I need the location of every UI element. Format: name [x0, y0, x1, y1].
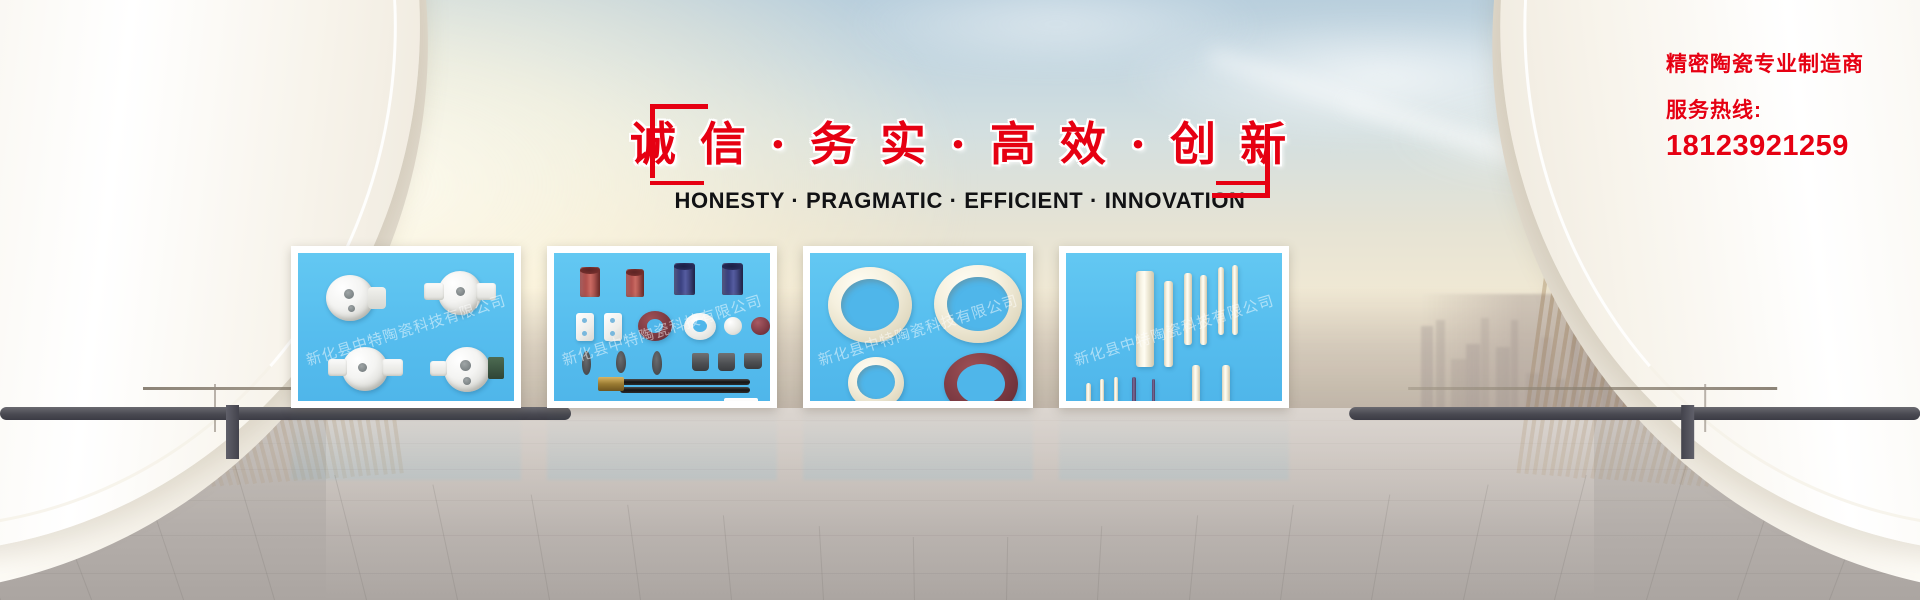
- contact-block: 精密陶瓷专业制造商 服务热线: 18123921259: [1666, 48, 1864, 163]
- panel-ceramic-components[interactable]: 新化县中特陶瓷科技有限公司: [547, 246, 777, 408]
- slogan-rule-right: [1216, 181, 1270, 185]
- floor-seam: [1280, 505, 1294, 600]
- company-tagline: 精密陶瓷专业制造商: [1666, 48, 1864, 78]
- floor-seam: [1006, 537, 1008, 600]
- product-photo-rings: [810, 253, 1026, 401]
- hotline-label: 服务热线:: [1666, 94, 1864, 124]
- slogan-english: HONESTY · PRAGMATIC · EFFICIENT · INNOVA…: [674, 188, 1245, 214]
- panel-ceramic-rods[interactable]: 新化县中特陶瓷科技有限公司: [1059, 246, 1289, 408]
- bracket-top-left-icon: [650, 104, 708, 178]
- upper-handrail: [1408, 387, 1777, 390]
- bracket-bottom-right-icon: [1212, 124, 1270, 198]
- panel-ceramic-rings[interactable]: 新化县中特陶瓷科技有限公司: [803, 246, 1033, 408]
- product-photo-components: [554, 253, 770, 401]
- slogan-block: 诚 信 · 务 实 · 高 效 · 创 新 HONESTY · PRAGMATI…: [0, 104, 1920, 214]
- floor-seam: [1097, 526, 1102, 600]
- floor-seam: [723, 515, 732, 600]
- panel-ceramic-lamp-holders[interactable]: 新化县中特陶瓷科技有限公司: [291, 246, 521, 408]
- railing-post: [226, 405, 239, 459]
- railing-post: [1681, 405, 1694, 459]
- floor-seam: [627, 505, 641, 600]
- hero-banner: 诚 信 · 务 实 · 高 效 · 创 新 HONESTY · PRAGMATI…: [0, 0, 1920, 600]
- product-photo-rods: [1066, 253, 1282, 401]
- terrace-railing: [1349, 407, 1920, 420]
- product-panel-list: 新化县中特陶瓷科技有限公司: [291, 246, 1289, 408]
- slogan-rule-left: [650, 181, 704, 185]
- slogan-chinese: 诚 信 · 务 实 · 高 效 · 创 新: [630, 108, 1290, 174]
- terrace-railing: [0, 407, 571, 420]
- floor-seam: [819, 526, 824, 600]
- floor-seam: [913, 537, 915, 600]
- product-photo-lamp-holders: [298, 253, 514, 401]
- hotline-phone[interactable]: 18123921259: [1666, 130, 1864, 163]
- floor-seam: [1189, 515, 1198, 600]
- slogan-bracket-row: 诚 信 · 务 实 · 高 效 · 创 新: [650, 104, 1270, 178]
